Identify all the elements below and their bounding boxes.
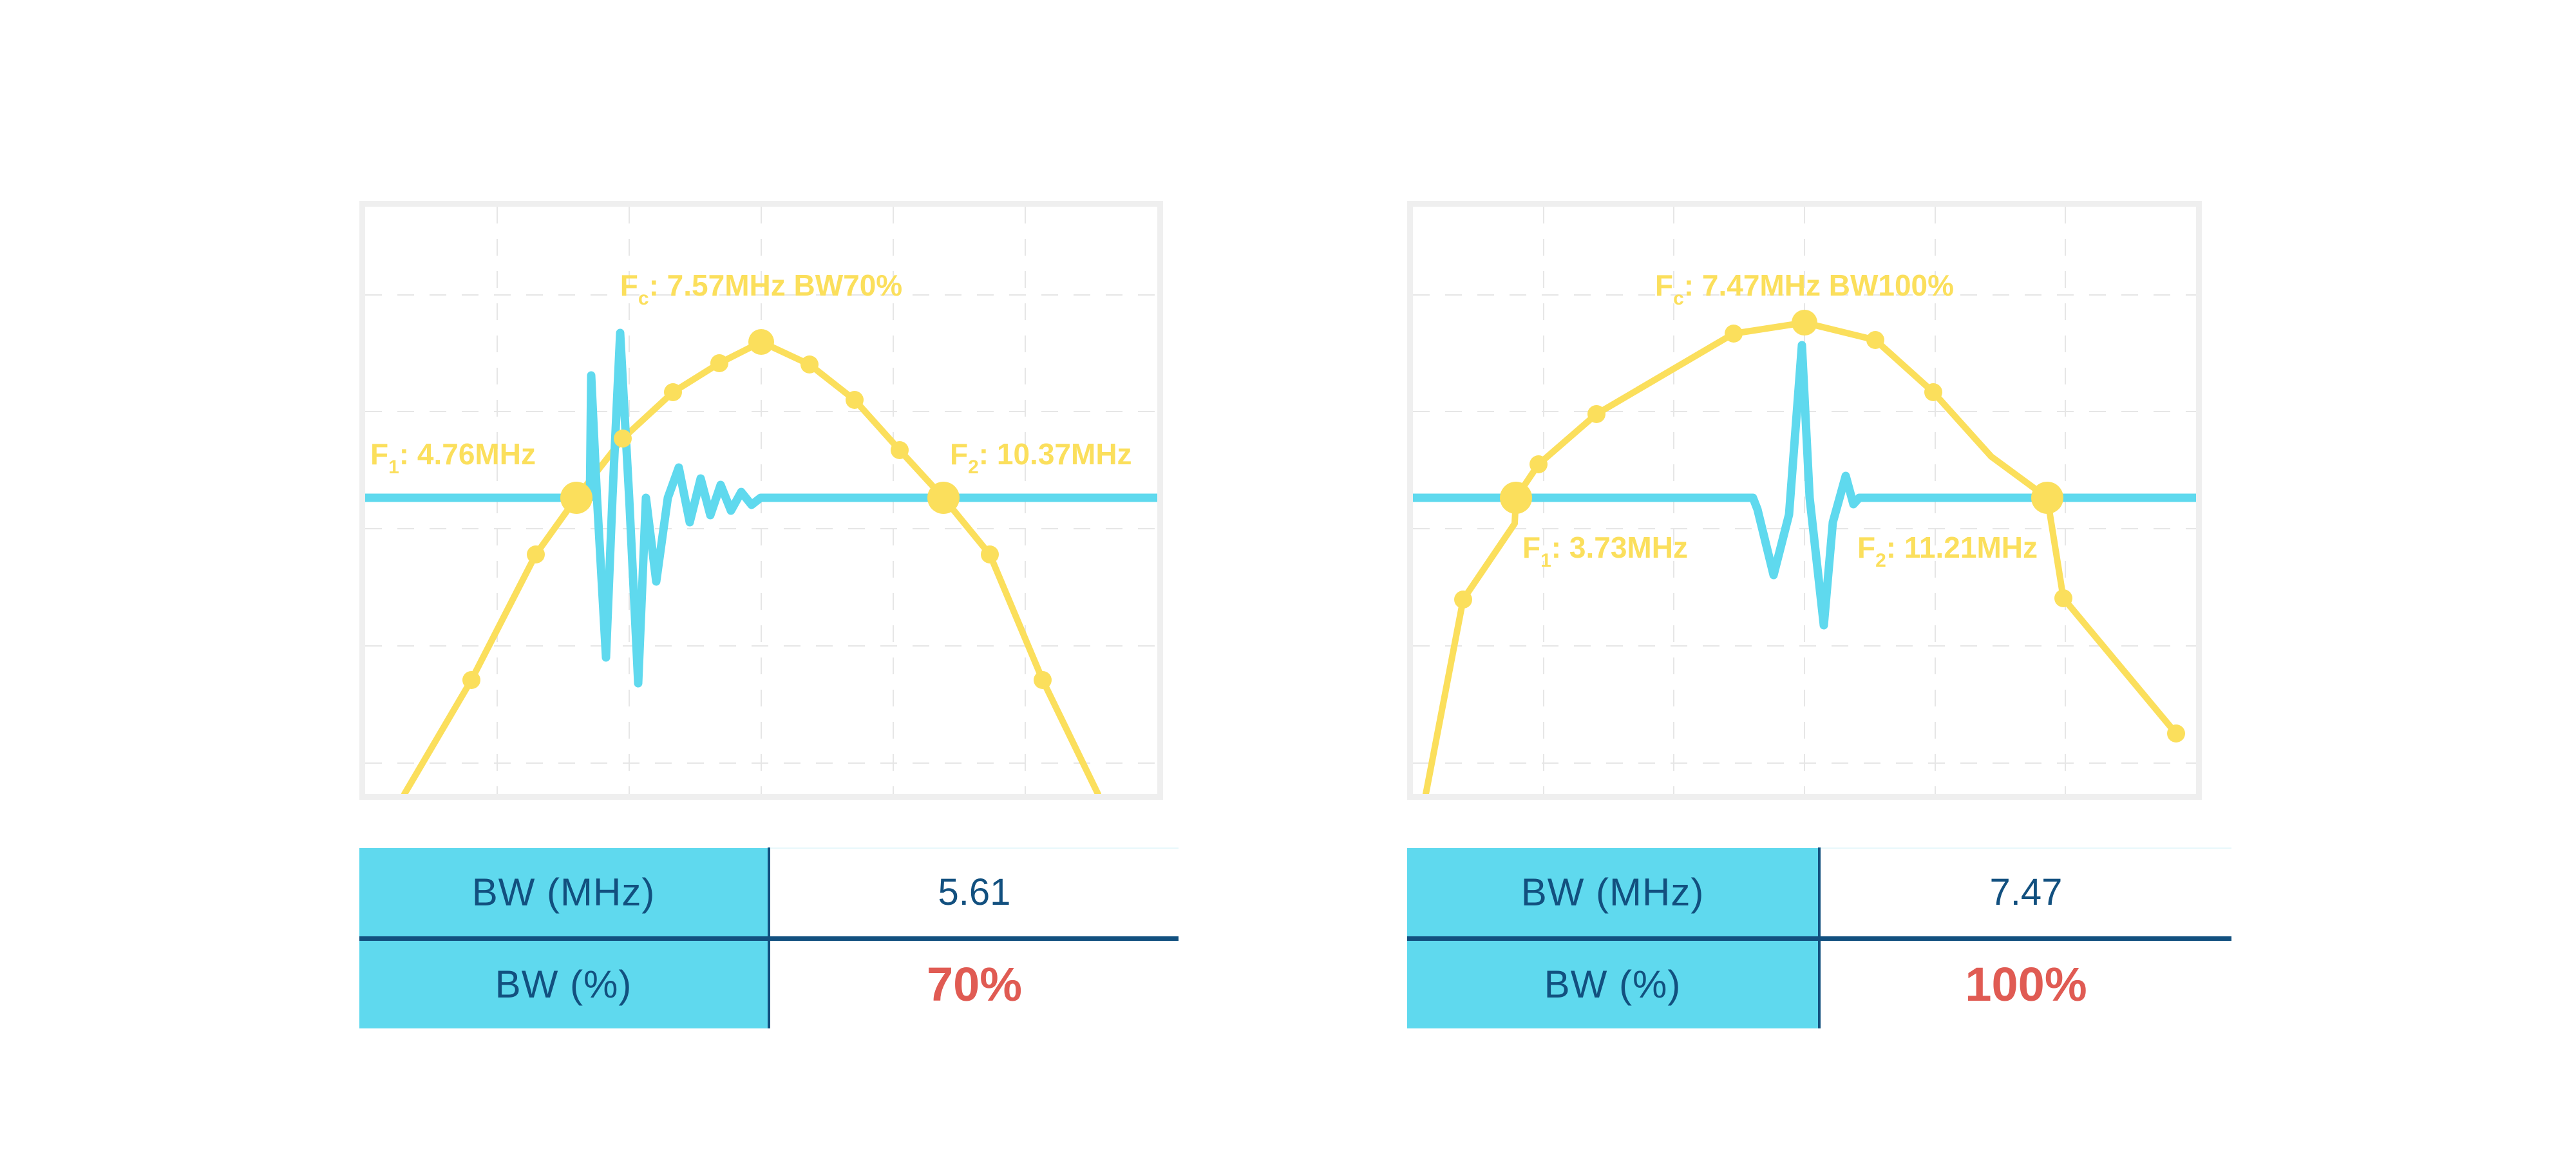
f2-marker xyxy=(927,482,960,514)
bw-percent-label: BW (%) xyxy=(359,938,769,1028)
fc-marker xyxy=(748,329,774,355)
spectrum-chart-70: Fc: 7.57MHz BW70% F1: 4.76MHz F2: 10.37M… xyxy=(365,207,1157,794)
f1-text: : 3.73MHz xyxy=(1551,531,1688,564)
page-root: Fc: 7.57MHz BW70% F1: 4.76MHz F2: 10.37M… xyxy=(0,0,2576,1154)
bw-mhz-label: BW (MHz) xyxy=(1407,848,1819,938)
f2-symbol: F xyxy=(1857,531,1875,564)
bw-mhz-value: 7.47 xyxy=(1819,848,2231,938)
table-row: BW (%) 70% xyxy=(359,938,1179,1028)
f1-symbol: F xyxy=(370,437,388,471)
chart-frame-100: Fc: 7.47MHz BW100% F1: 3.73MHz F2: 11.21… xyxy=(1407,201,2202,800)
f2-subscript: 2 xyxy=(968,457,979,478)
fc-annotation: Fc: 7.57MHz BW70% xyxy=(620,269,902,309)
bw-mhz-label: BW (MHz) xyxy=(359,848,769,938)
bandwidth-table-70: BW (MHz) 5.61 BW (%) 70% xyxy=(359,847,1179,1028)
f1-marker xyxy=(560,482,592,514)
f2-marker xyxy=(2031,482,2063,514)
fc-text: : 7.47MHz BW100% xyxy=(1684,269,1954,302)
table-row: BW (MHz) 5.61 xyxy=(359,848,1179,938)
f1-annotation: F1: 4.76MHz xyxy=(370,437,536,478)
table-row: BW (MHz) 7.47 xyxy=(1407,848,2231,938)
spectrum-chart-100: Fc: 7.47MHz BW100% F1: 3.73MHz F2: 11.21… xyxy=(1413,207,2196,794)
fc-symbol: F xyxy=(620,269,638,302)
f1-marker xyxy=(1500,482,1532,514)
time-domain-pulse xyxy=(1413,345,2196,625)
frequency-spectrum-curve xyxy=(404,342,1098,794)
fc-symbol: F xyxy=(1655,269,1673,302)
fc-marker xyxy=(1792,310,1817,336)
fc-annotation: Fc: 7.47MHz BW100% xyxy=(1655,269,1954,309)
f2-text: : 10.37MHz xyxy=(979,437,1132,471)
f1-symbol: F xyxy=(1522,531,1540,564)
fc-text: : 7.57MHz BW70% xyxy=(649,269,903,302)
chart-frame-70: Fc: 7.57MHz BW70% F1: 4.76MHz F2: 10.37M… xyxy=(359,201,1163,800)
bw-percent-value: 100% xyxy=(1819,938,2231,1028)
table-row: BW (%) 100% xyxy=(1407,938,2231,1028)
f1-annotation: F1: 3.73MHz xyxy=(1522,531,1688,571)
fc-subscript: c xyxy=(1673,288,1684,309)
bw-percent-label: BW (%) xyxy=(1407,938,1819,1028)
f1-subscript: 1 xyxy=(388,457,399,478)
f2-text: : 11.21MHz xyxy=(1886,531,2038,564)
bw-percent-value: 70% xyxy=(769,938,1179,1028)
f1-text: : 4.76MHz xyxy=(399,437,536,471)
f2-symbol: F xyxy=(950,437,968,471)
bandwidth-table-100: BW (MHz) 7.47 BW (%) 100% xyxy=(1407,847,2231,1028)
f2-annotation: F2: 11.21MHz xyxy=(1857,531,2038,571)
f2-subscript: 2 xyxy=(1875,550,1886,571)
fc-subscript: c xyxy=(638,288,649,309)
bw-mhz-value: 5.61 xyxy=(769,848,1179,938)
f2-annotation: F2: 10.37MHz xyxy=(950,437,1132,478)
f1-subscript: 1 xyxy=(1540,550,1551,571)
